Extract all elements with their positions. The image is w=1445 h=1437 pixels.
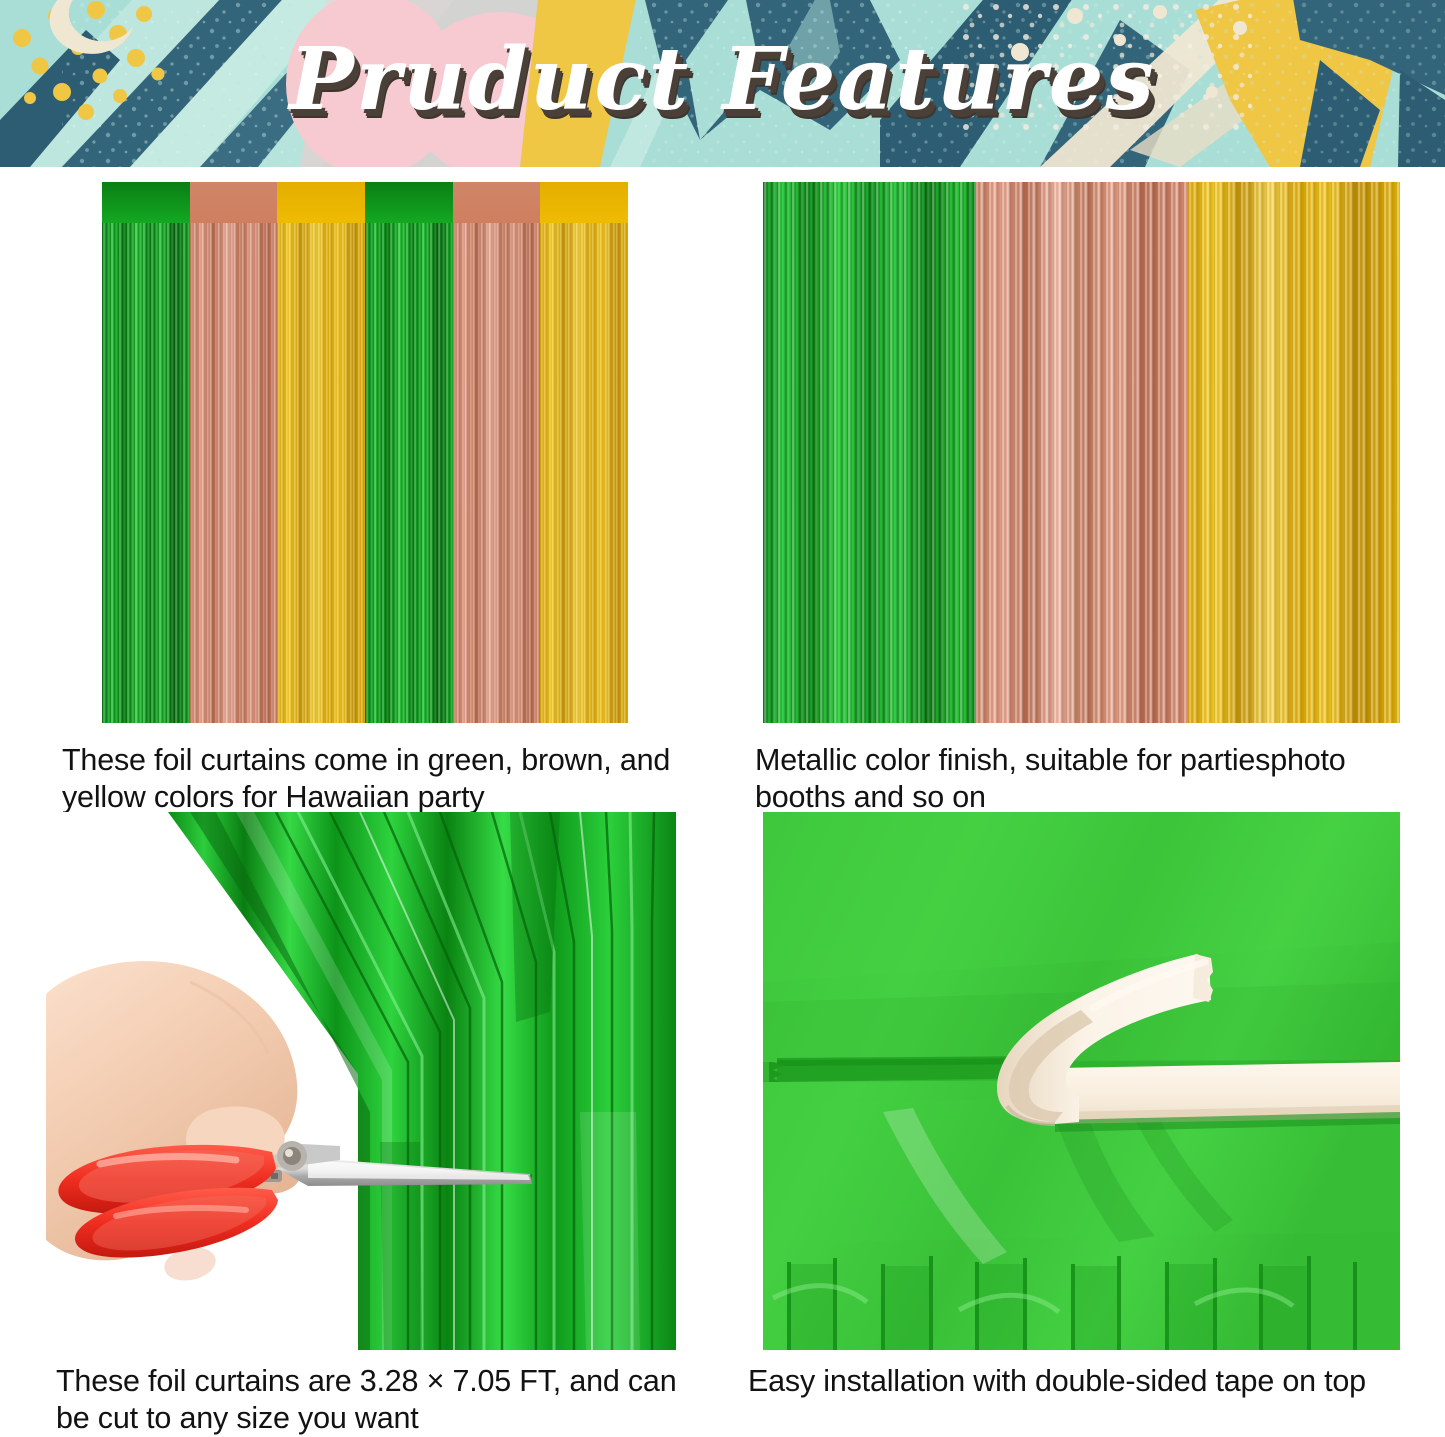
curtain-top-header — [277, 182, 365, 223]
curtain-top-header — [540, 182, 628, 223]
fringe-texture — [190, 182, 278, 723]
double-sided-tape-illustration — [763, 812, 1400, 1350]
fringe-texture — [975, 182, 1187, 723]
curtain-strip-green-1 — [102, 182, 190, 723]
feature-caption-colors: These foil curtains come in green, brown… — [62, 742, 702, 816]
feature-caption-cuttable-size: These foil curtains are 3.28 × 7.05 FT, … — [56, 1363, 706, 1437]
curtain-closeup-row — [763, 182, 1400, 723]
curtain-top-header — [190, 182, 278, 223]
foil-curtain-closeup-photo — [763, 182, 1400, 723]
feature-grid: These foil curtains come in green, brown… — [0, 167, 1445, 1436]
page-title: Pruduct Features — [289, 29, 1156, 130]
page-header-banner: Pruduct Features — [0, 0, 1445, 167]
curtain-top-header — [365, 182, 453, 223]
curtain-top-header — [102, 182, 190, 223]
fringe-texture — [453, 182, 541, 723]
curtain-band-gold — [1188, 182, 1400, 723]
scissors-cutting-illustration — [40, 812, 676, 1350]
curtain-strip-gold-2 — [540, 182, 628, 723]
hand-cutting-green-foil-with-scissors-photo — [40, 812, 676, 1350]
fringe-texture — [763, 182, 975, 723]
curtain-band-rose — [975, 182, 1187, 723]
curtain-strip-green-2 — [365, 182, 453, 723]
curtain-panel-row — [102, 182, 628, 723]
feature-item-cuttable-size — [40, 812, 676, 1350]
curtain-strip-gold-1 — [277, 182, 365, 723]
fringe-texture — [102, 182, 190, 723]
curtain-strip-rose-1 — [190, 182, 278, 723]
curtain-strip-rose-2 — [453, 182, 541, 723]
feature-caption-easy-installation: Easy installation with double-sided tape… — [748, 1363, 1438, 1400]
feature-caption-metallic-finish: Metallic color finish, suitable for part… — [755, 742, 1420, 816]
curtain-top-header — [453, 182, 541, 223]
page-title-container: Pruduct Features — [0, 0, 1445, 167]
feature-item-metallic-finish — [763, 182, 1400, 723]
foil-curtain-six-panels-photo — [102, 182, 628, 723]
fringe-texture — [277, 182, 365, 723]
double-sided-tape-on-green-foil-photo — [763, 812, 1400, 1350]
fringe-texture — [365, 182, 453, 723]
fringe-texture — [1188, 182, 1400, 723]
feature-item-easy-installation — [763, 812, 1400, 1350]
fringe-texture — [540, 182, 628, 723]
curtain-band-green — [763, 182, 975, 723]
feature-item-colors — [102, 182, 628, 723]
